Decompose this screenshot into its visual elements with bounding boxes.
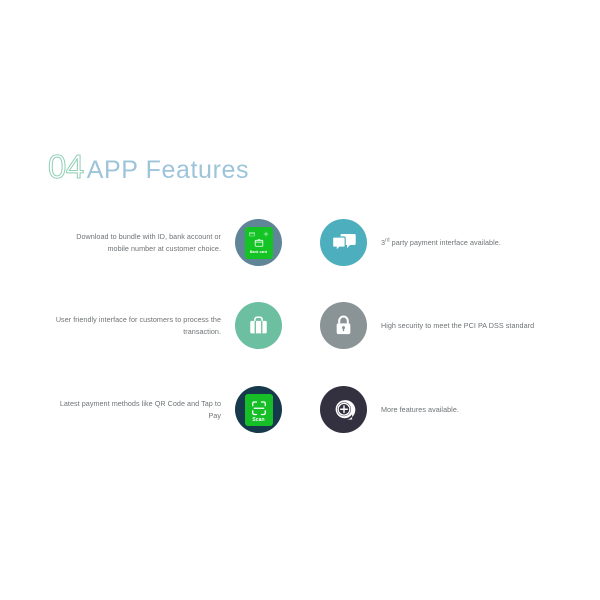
tile-label: Bank card (245, 250, 273, 254)
qr-scan-tile-icon: Scan (245, 394, 273, 426)
chat-bubbles-icon (332, 231, 356, 255)
section-title: APP Features (87, 158, 249, 183)
feature-text: 3rd party payment interface available. (381, 237, 576, 248)
tile-top-icons (245, 231, 273, 237)
add-bubble-plus-icon (332, 398, 356, 422)
padlock-icon (332, 314, 355, 337)
feature-text: User friendly interface for customers to… (45, 314, 221, 336)
feature-icon-circle[interactable]: Bank card (235, 219, 282, 266)
feature-item-more-features: More features available. (320, 386, 550, 433)
feature-icon-circle[interactable] (320, 219, 367, 266)
briefcase-icon (247, 314, 270, 337)
bank-card-tile-icon: Bank card (245, 227, 273, 259)
feature-text-rest: party payment interface available. (390, 238, 501, 247)
feature-item-high-security: High security to meet the PCI PA DSS sta… (320, 302, 582, 349)
feature-text: High security to meet the PCI PA DSS sta… (381, 320, 576, 331)
feature-text: Download to bundle with ID, bank account… (56, 231, 221, 253)
page-title: 04 APP Features (48, 150, 249, 183)
slide-canvas: 04 APP Features Download to bundle with … (0, 0, 600, 600)
feature-icon-circle[interactable] (320, 302, 367, 349)
feature-item-third-party-interface: 3rd party payment interface available. (320, 219, 580, 266)
feature-item-qr-tap-to-pay: Latest payment methods like QR Code and … (56, 386, 282, 433)
section-number: 04 (48, 150, 84, 183)
feature-text: More features available. (381, 404, 550, 415)
feature-icon-circle[interactable]: Scan (235, 386, 282, 433)
card-small-icon (249, 231, 255, 237)
feature-text: Latest payment methods like QR Code and … (56, 398, 221, 420)
tile-label: Scan (245, 417, 273, 423)
feature-icon-circle[interactable] (235, 302, 282, 349)
wallet-glyph-icon (254, 238, 263, 247)
scan-frame-icon (251, 400, 266, 415)
plus-small-icon (263, 231, 269, 237)
feature-item-bundle-download: Download to bundle with ID, bank account… (56, 219, 282, 266)
feature-item-user-friendly: User friendly interface for customers to… (30, 302, 282, 349)
feature-icon-circle[interactable] (320, 386, 367, 433)
